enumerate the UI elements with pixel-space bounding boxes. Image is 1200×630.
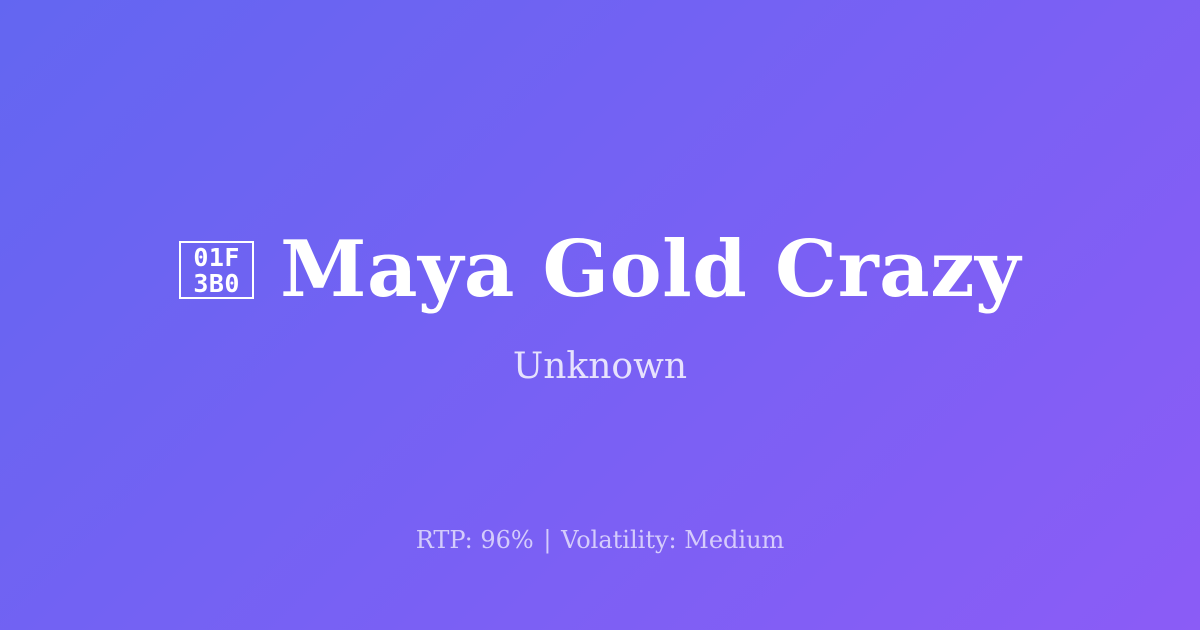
tofu-hex-top: 01F xyxy=(193,245,240,271)
game-title: Maya Gold Crazy xyxy=(280,231,1021,309)
game-og-card: 01F 3B0 Maya Gold Crazy Unknown RTP: 96%… xyxy=(0,0,1200,630)
title-row: 01F 3B0 Maya Gold Crazy xyxy=(179,231,1021,309)
volatility-value: Volatility: Medium xyxy=(561,526,784,554)
game-meta-line: RTP: 96% | Volatility: Medium xyxy=(0,528,1200,552)
tofu-hex-bottom: 3B0 xyxy=(193,271,240,297)
meta-separator: | xyxy=(541,526,553,554)
game-provider: Unknown xyxy=(513,349,687,385)
hero-block: 01F 3B0 Maya Gold Crazy Unknown xyxy=(0,231,1200,385)
slot-machine-tofu-glyph-icon: 01F 3B0 xyxy=(179,241,254,299)
rtp-value: RTP: 96% xyxy=(416,526,534,554)
